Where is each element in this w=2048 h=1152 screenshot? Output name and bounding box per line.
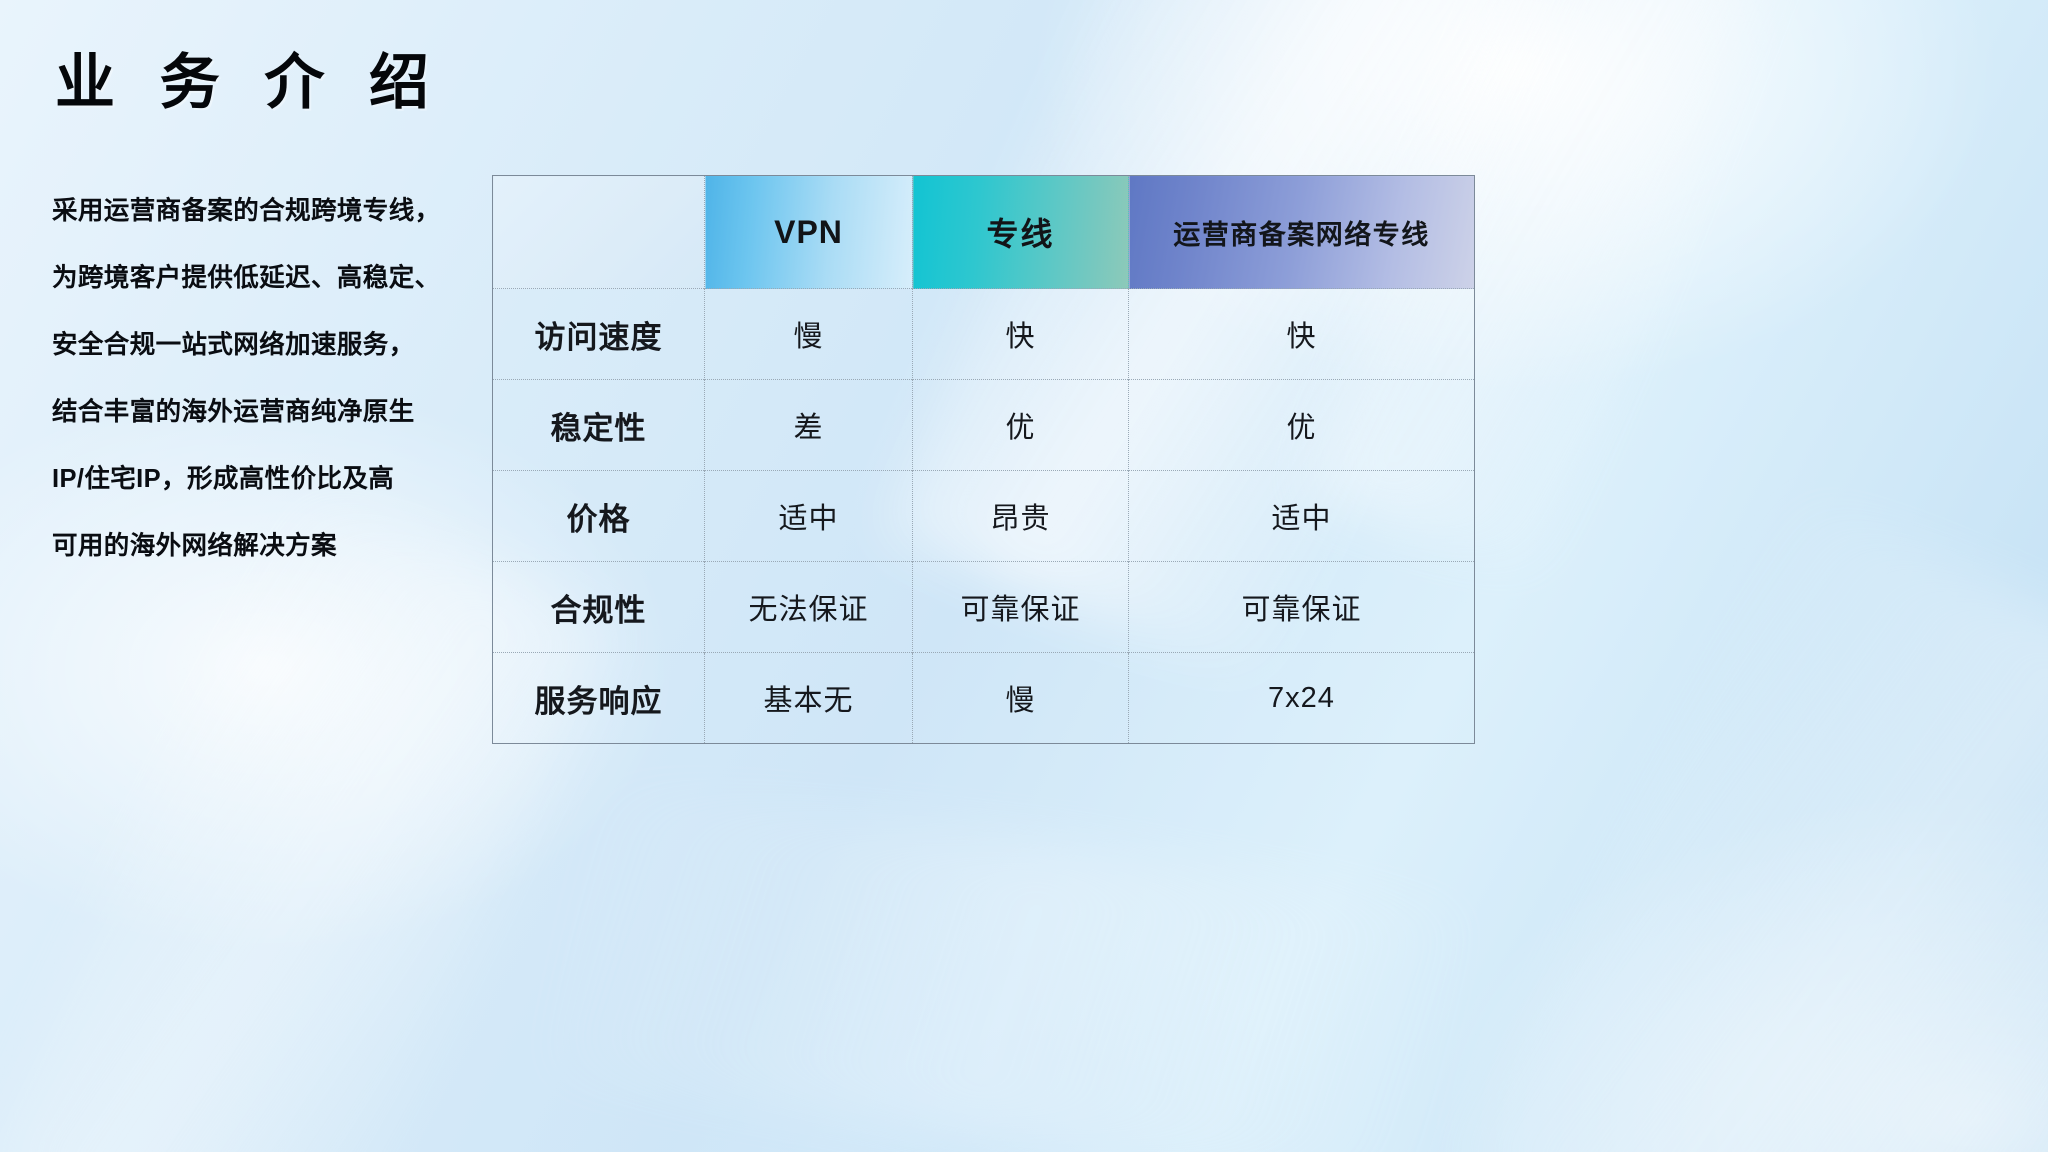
table-row: 合规性 无法保证 可靠保证 可靠保证: [493, 562, 1475, 653]
row-label: 访问速度: [493, 289, 705, 380]
table-row: 价格 适中 昂贵 适中: [493, 471, 1475, 562]
table-header-dedicated-line: 专线: [913, 176, 1129, 289]
table-row: 访问速度 慢 快 快: [493, 289, 1475, 380]
table-header-blank: [493, 176, 705, 289]
cell-filed: 优: [1129, 380, 1475, 471]
table-row: 稳定性 差 优 优: [493, 380, 1475, 471]
background-light-streak: [544, 779, 1477, 1152]
paragraph-line: 采用运营商备案的合规跨境专线，: [52, 178, 472, 245]
table-header-row: VPN 专线 运营商备案网络专线: [493, 176, 1475, 289]
cell-line: 可靠保证: [913, 562, 1129, 653]
background-light-streak: [1460, 484, 2048, 1152]
paragraph-line: 结合丰富的海外运营商纯净原生: [52, 379, 472, 446]
paragraph-line: 为跨境客户提供低延迟、高稳定、: [52, 245, 472, 312]
cell-filed: 适中: [1129, 471, 1475, 562]
row-label: 合规性: [493, 562, 705, 653]
row-label: 价格: [493, 471, 705, 562]
cell-vpn: 慢: [705, 289, 913, 380]
cell-vpn: 基本无: [705, 653, 913, 744]
row-label: 稳定性: [493, 380, 705, 471]
table-header-vpn: VPN: [705, 176, 913, 289]
cell-line: 慢: [913, 653, 1129, 744]
cell-line: 快: [913, 289, 1129, 380]
cell-line: 优: [913, 380, 1129, 471]
slide-canvas: 业 务 介 绍 采用运营商备案的合规跨境专线， 为跨境客户提供低延迟、高稳定、 …: [0, 0, 2048, 1152]
cell-vpn: 适中: [705, 471, 913, 562]
cell-vpn: 无法保证: [705, 562, 913, 653]
cell-filed: 7x24: [1129, 653, 1475, 744]
cell-vpn: 差: [705, 380, 913, 471]
cell-filed: 快: [1129, 289, 1475, 380]
table-header-filed-network-line: 运营商备案网络专线: [1129, 176, 1475, 289]
cell-filed: 可靠保证: [1129, 562, 1475, 653]
row-label: 服务响应: [493, 653, 705, 744]
paragraph-line: 安全合规一站式网络加速服务，: [52, 312, 472, 379]
paragraph-line: 可用的海外网络解决方案: [52, 513, 472, 580]
description-paragraph: 采用运营商备案的合规跨境专线， 为跨境客户提供低延迟、高稳定、 安全合规一站式网…: [52, 178, 472, 580]
table-row: 服务响应 基本无 慢 7x24: [493, 653, 1475, 744]
comparison-table: VPN 专线 运营商备案网络专线 访问速度 慢 快 快 稳定性 差 优 优 价格…: [492, 175, 1475, 744]
paragraph-line: IP/住宅IP，形成高性价比及高: [52, 446, 472, 513]
page-title: 业 务 介 绍: [55, 48, 443, 117]
cell-line: 昂贵: [913, 471, 1129, 562]
